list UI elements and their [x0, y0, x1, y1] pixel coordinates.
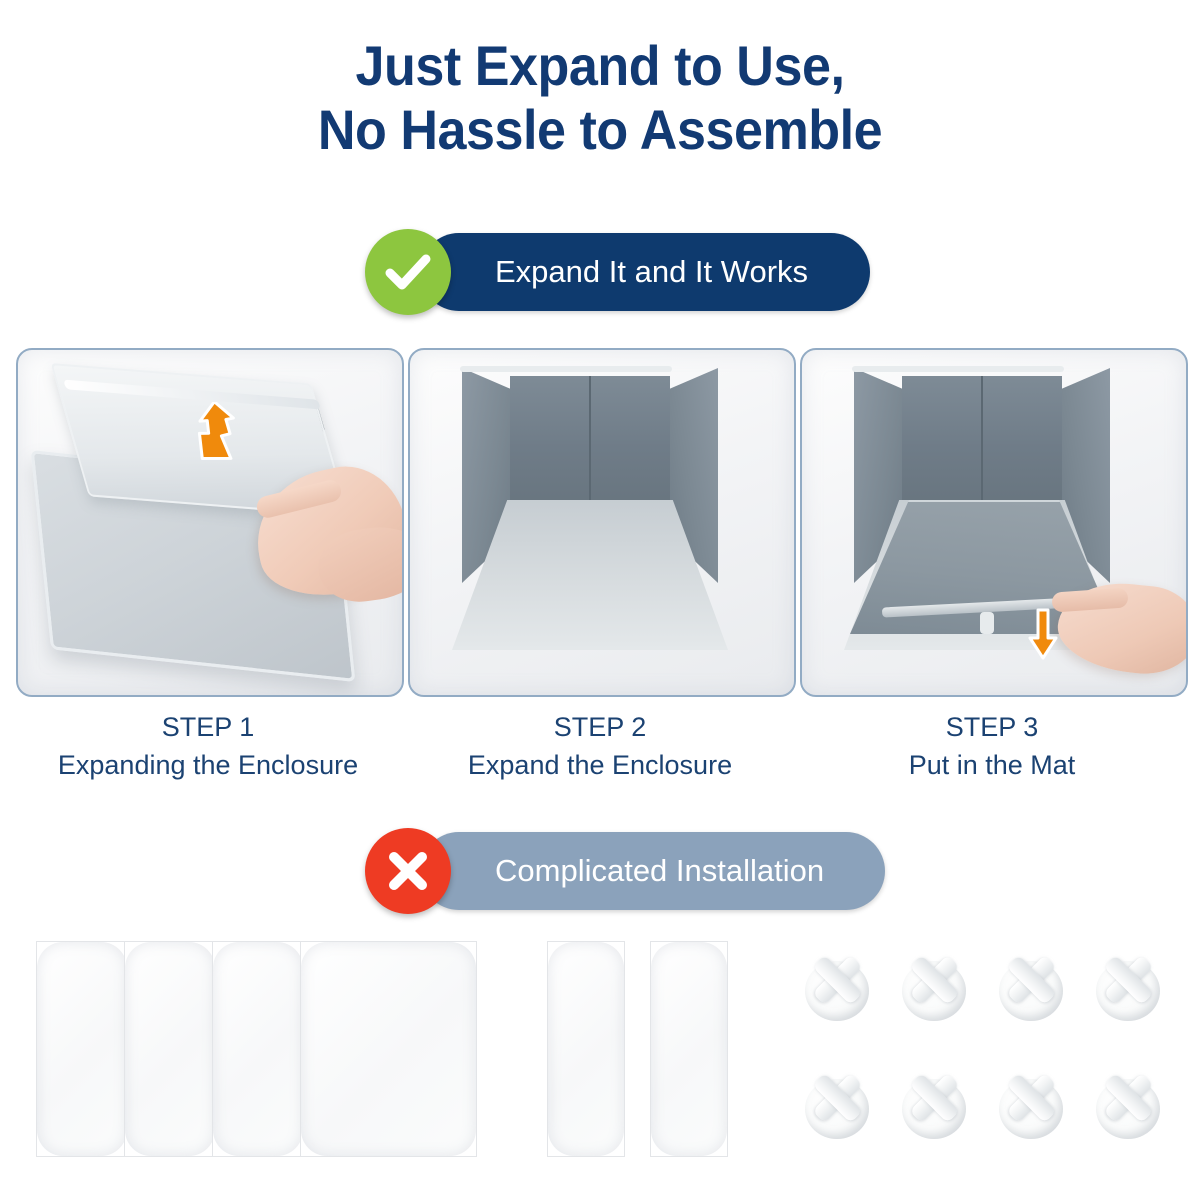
panel-part [212, 941, 304, 1157]
step-3-label: STEP 3 [800, 708, 1184, 746]
x-connector-icon [1094, 955, 1162, 1023]
step-2-scene [410, 350, 794, 695]
infographic-stage: Just Expand to Use, No Hassle to Assembl… [0, 0, 1200, 1200]
title-line-1: Just Expand to Use, [42, 34, 1158, 98]
step-1-label: STEP 1 [16, 708, 400, 746]
banner-good-pill: Expand It and It Works [420, 233, 870, 311]
x-connector-icon [997, 955, 1065, 1023]
step-2-photo [408, 348, 796, 697]
x-connector-icon [803, 955, 871, 1023]
x-connector-icon [803, 1073, 871, 1141]
enclosure-back-seam [589, 376, 591, 506]
x-connector-icon [900, 955, 968, 1023]
cross-icon [365, 828, 451, 914]
step-2-caption: STEP 2 Expand the Enclosure [408, 708, 792, 784]
narrow-panel-part [650, 941, 728, 1157]
step-1-caption: STEP 1 Expanding the Enclosure [16, 708, 400, 784]
step-3-photo [800, 348, 1188, 697]
step-3-scene [802, 350, 1186, 695]
step-3-description: Put in the Mat [800, 746, 1184, 784]
narrow-panel-part [547, 941, 625, 1157]
step-3-caption: STEP 3 Put in the Mat [800, 708, 1184, 784]
banner-bad-pill: Complicated Installation [420, 832, 885, 910]
enclosure-top-rim [852, 366, 1064, 372]
arrow-up-icon [196, 402, 248, 464]
enclosure-back-seam [981, 376, 983, 506]
step-1-photo [16, 348, 404, 697]
x-connector-icon [997, 1073, 1065, 1141]
x-connector-icon [1094, 1073, 1162, 1141]
panel-part [124, 941, 216, 1157]
x-connector-icon [900, 1073, 968, 1141]
mat-tab [980, 612, 994, 634]
title-line-2: No Hassle to Assemble [42, 98, 1158, 162]
step-2-description: Expand the Enclosure [408, 746, 792, 784]
panel-part [36, 941, 128, 1157]
banner-complicated-installation: Complicated Installation [365, 832, 885, 910]
enclosure-top-rim [460, 366, 672, 372]
step-2-label: STEP 2 [408, 708, 792, 746]
panel-part [300, 941, 477, 1157]
arrow-down-icon [1026, 608, 1060, 660]
page-title: Just Expand to Use, No Hassle to Assembl… [42, 34, 1158, 162]
banner-expand-it-works: Expand It and It Works [365, 233, 870, 311]
check-icon [365, 229, 451, 315]
banner-bad-label: Complicated Installation [420, 832, 866, 910]
step-1-description: Expanding the Enclosure [16, 746, 400, 784]
banner-good-label: Expand It and It Works [420, 233, 850, 311]
